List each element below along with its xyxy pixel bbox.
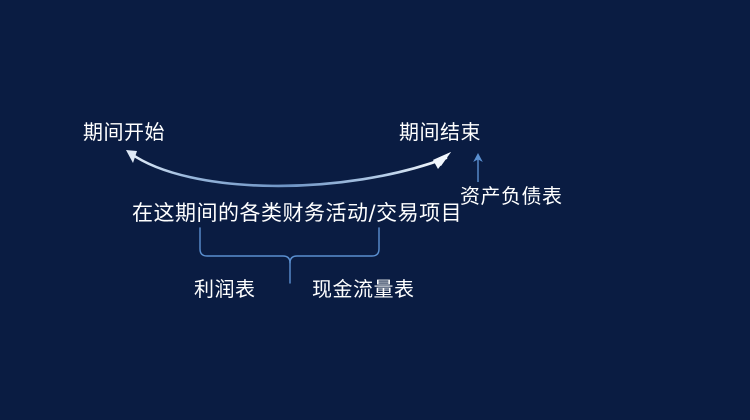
diagram-canvas: 期间开始 期间结束 在这期间的各类财务活动/交易项目 资产负债表 利润表 现金流… [0,0,750,420]
cash-flow-statement-label: 现金流量表 [312,277,415,301]
income-statement-label: 利润表 [194,277,256,301]
curly-brace-icon [200,228,379,283]
period-end-label: 期间结束 [399,120,481,144]
timeline-arc-icon [126,150,451,186]
balance-sheet-label: 资产负债表 [460,184,563,208]
up-arrow-icon [473,153,483,182]
financial-activities-label: 在这期间的各类财务活动/交易项目 [132,201,462,225]
period-start-label: 期间开始 [83,120,165,144]
